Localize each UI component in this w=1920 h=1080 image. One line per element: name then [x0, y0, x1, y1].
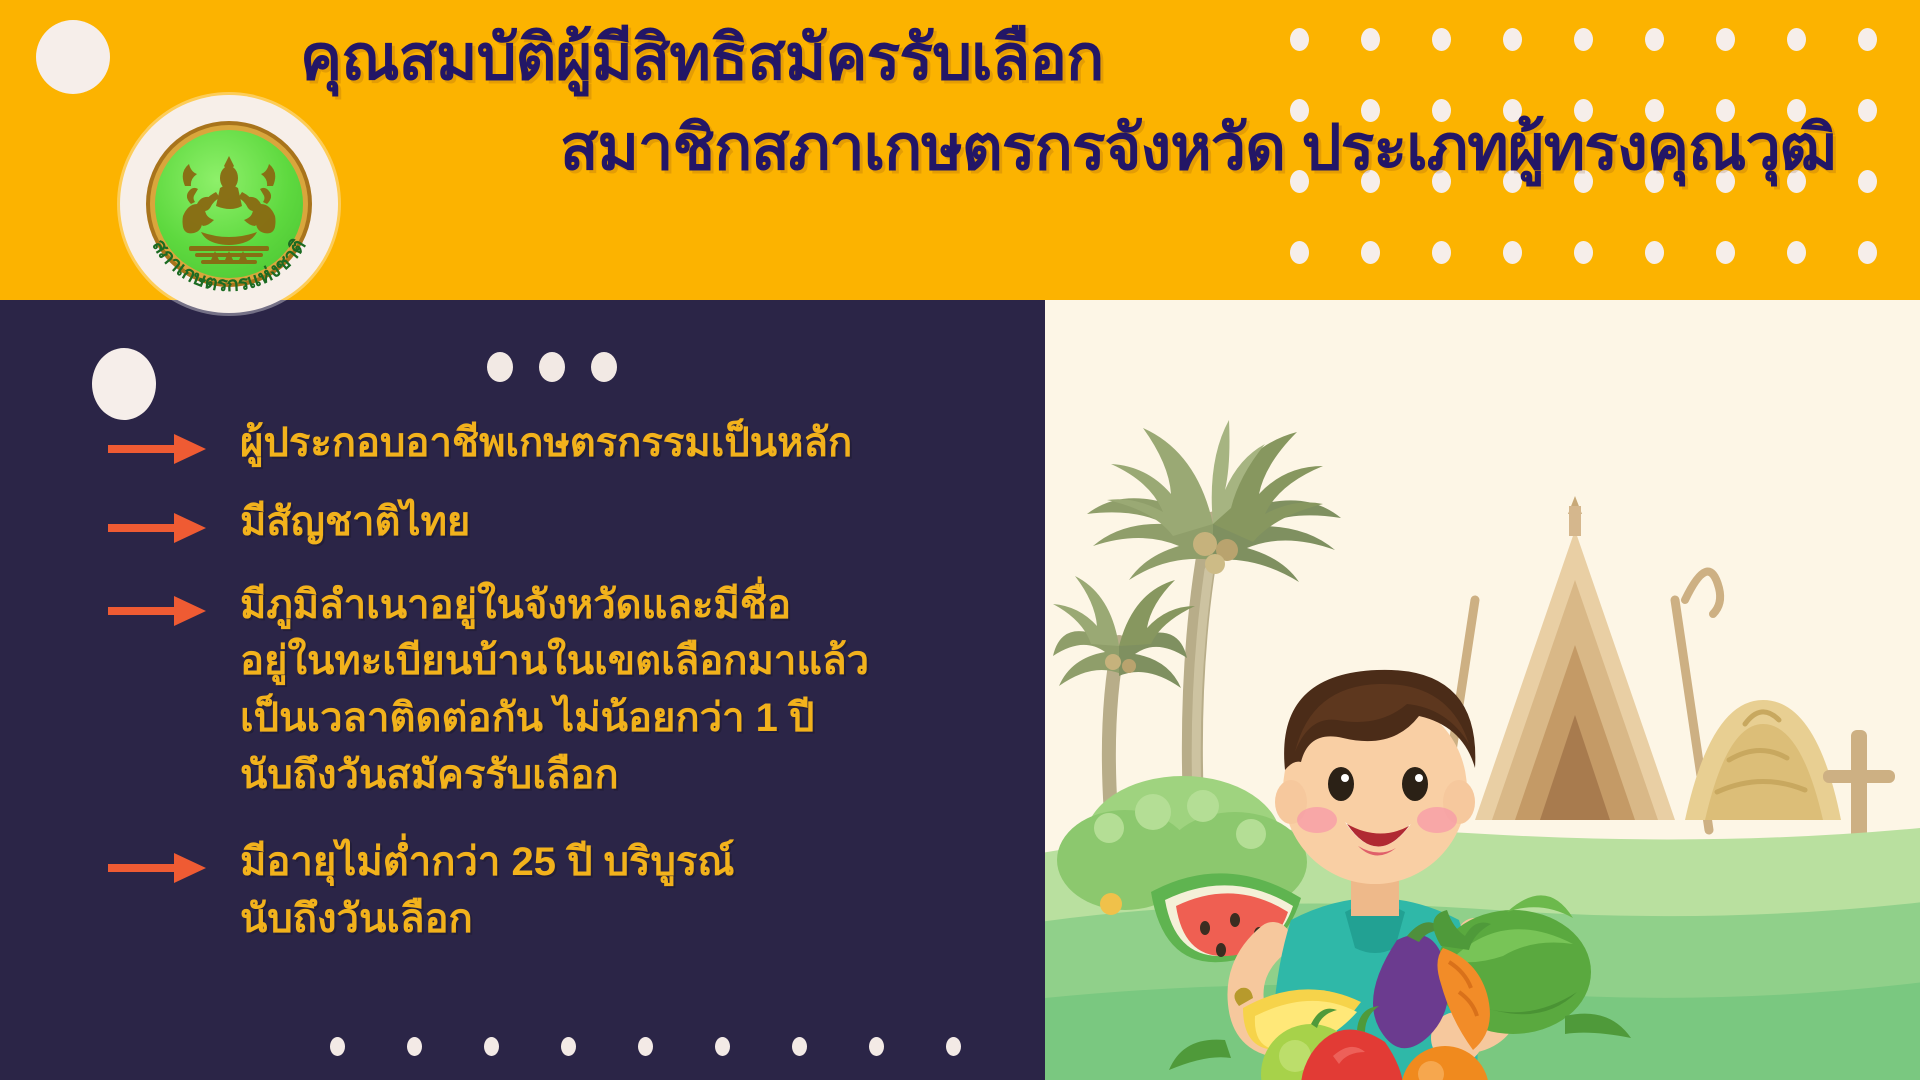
list-item: มีอายุไม่ต่ำกว่า 25 ปี บริบูรณ์ นับถึงวั… [0, 834, 1040, 948]
infographic-poster: คุณสมบัติผู้มีสิทธิสมัครรับเลือก สมาชิกส… [0, 0, 1920, 1080]
list-item-line: มีสัญชาติไทย [240, 494, 1040, 551]
title-line-2: สมาชิกสภาเกษตรกรจังหวัด ประเภทผู้ทรงคุณว… [560, 112, 1836, 184]
list-item-line: มีภูมิลำเนาอยู่ในจังหวัดและมีชื่อ [240, 577, 1040, 634]
list-item-line: ผู้ประกอบอาชีพเกษตรกรรมเป็นหลัก [240, 415, 1040, 472]
decorative-dots-panel-bottom [330, 1037, 961, 1056]
bush-fruit [1100, 893, 1122, 915]
list-item-line: เป็นเวลาติดต่อกัน ไม่น้อยกว่า 1 ปี [240, 690, 1040, 747]
svg-text:สภาเกษตรกรแห่งชาติ: สภาเกษตรกรแห่งชาติ [147, 235, 310, 296]
emblem-ring-text: สภาเกษตรกรแห่งชาติ [120, 95, 338, 313]
arrow-right-icon [108, 415, 228, 469]
list-item-line: มีอายุไม่ต่ำกว่า 25 ปี บริบูรณ์ [240, 834, 1040, 891]
qualifications-list: ผู้ประกอบอาชีพเกษตรกรรมเป็นหลัก มีสัญชาต… [0, 415, 1040, 947]
council-emblem-logo: สภาเกษตรกรแห่งชาติ [120, 95, 338, 313]
farm-scene-illustration [1045, 300, 1920, 1080]
haystack-icon [1685, 700, 1841, 820]
title-line-1: คุณสมบัติผู้มีสิทธิสมัครรับเลือก [300, 22, 1103, 94]
decorative-dots-panel-top [487, 352, 617, 382]
arrow-right-icon [108, 834, 228, 888]
list-item: ผู้ประกอบอาชีพเกษตรกรรมเป็นหลัก [0, 415, 1040, 472]
emblem-ring-label: สภาเกษตรกรแห่งชาติ [147, 235, 310, 296]
decorative-circle-panel [92, 348, 156, 420]
arrow-right-icon [108, 494, 228, 548]
arrow-right-icon [108, 577, 228, 631]
list-item-line: อยู่ในทะเบียนบ้านในเขตเลือกมาแล้ว [240, 633, 1040, 690]
list-item-text: มีอายุไม่ต่ำกว่า 25 ปี บริบูรณ์ นับถึงวั… [240, 834, 1040, 948]
list-item-text: มีสัญชาติไทย [240, 494, 1040, 551]
illustration-panel [1045, 300, 1920, 1080]
list-item: มีภูมิลำเนาอยู่ในจังหวัดและมีชื่อ อยู่ใน… [0, 577, 1040, 804]
list-item-text: มีภูมิลำเนาอยู่ในจังหวัดและมีชื่อ อยู่ใน… [240, 577, 1040, 804]
list-item-line: นับถึงวันเลือก [240, 891, 1040, 948]
list-item-line: นับถึงวันสมัครรับเลือก [240, 747, 1040, 804]
list-item-text: ผู้ประกอบอาชีพเกษตรกรรมเป็นหลัก [240, 415, 1040, 472]
thatched-hut-icon [1440, 496, 1720, 830]
list-item: มีสัญชาติไทย [0, 494, 1040, 551]
